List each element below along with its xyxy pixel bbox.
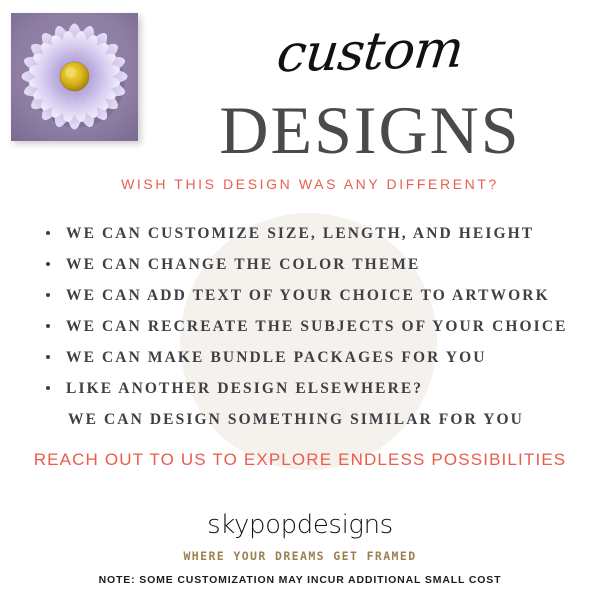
bullet-icon xyxy=(46,386,50,390)
list-item-label: LIKE ANOTHER DESIGN ELSEWHERE? xyxy=(66,380,423,397)
bullet-icon xyxy=(46,355,50,359)
page-title: DESIGNS xyxy=(160,96,580,164)
bullet-icon xyxy=(46,231,50,235)
call-to-action-text[interactable]: REACH OUT TO US TO EXPLORE ENDLESS POSSI… xyxy=(10,450,590,470)
benefits-list: WE CAN CUSTOMIZE SIZE, LENGTH, AND HEIGH… xyxy=(44,218,574,435)
list-item-label: WE CAN CHANGE THE COLOR THEME xyxy=(66,256,420,273)
promo-poster: custom DESIGNS WISH THIS DESIGN WAS ANY … xyxy=(0,0,600,600)
list-item-continuation: WE CAN DESIGN SOMETHING SIMILAR FOR YOU xyxy=(44,404,574,435)
list-item-label: WE CAN RECREATE THE SUBJECTS OF YOUR CHO… xyxy=(66,318,568,335)
headline-script-word: custom xyxy=(156,21,583,84)
footnote-disclaimer: NOTE: SOME CUSTOMIZATION MAY INCUR ADDIT… xyxy=(0,574,600,586)
list-item: WE CAN MAKE BUNDLE PACKAGES FOR YOU xyxy=(44,342,574,373)
subhead-question: WISH THIS DESIGN WAS ANY DIFFERENT? xyxy=(60,176,560,192)
list-item: WE CAN CHANGE THE COLOR THEME xyxy=(44,249,574,280)
list-item-label: WE CAN MAKE BUNDLE PACKAGES FOR YOU xyxy=(66,349,487,366)
product-artwork-thumbnail[interactable] xyxy=(11,13,138,141)
list-item: LIKE ANOTHER DESIGN ELSEWHERE? xyxy=(44,373,574,404)
purple-daisy-icon xyxy=(11,13,138,141)
list-item: WE CAN RECREATE THE SUBJECTS OF YOUR CHO… xyxy=(44,311,574,342)
list-item: WE CAN CUSTOMIZE SIZE, LENGTH, AND HEIGH… xyxy=(44,218,574,249)
bullet-icon xyxy=(46,262,50,266)
list-item: WE CAN ADD TEXT OF YOUR CHOICE TO ARTWOR… xyxy=(44,280,574,311)
brand-name: skypopdesigns xyxy=(0,510,600,540)
bullet-icon xyxy=(46,293,50,297)
bullet-icon xyxy=(46,324,50,328)
brand-slogan: WHERE YOUR DREAMS GET FRAMED xyxy=(0,549,600,563)
list-item-label: WE CAN ADD TEXT OF YOUR CHOICE TO ARTWOR… xyxy=(66,287,550,304)
list-item-label: WE CAN CUSTOMIZE SIZE, LENGTH, AND HEIGH… xyxy=(66,225,534,242)
list-item-label: WE CAN DESIGN SOMETHING SIMILAR FOR YOU xyxy=(68,411,524,428)
